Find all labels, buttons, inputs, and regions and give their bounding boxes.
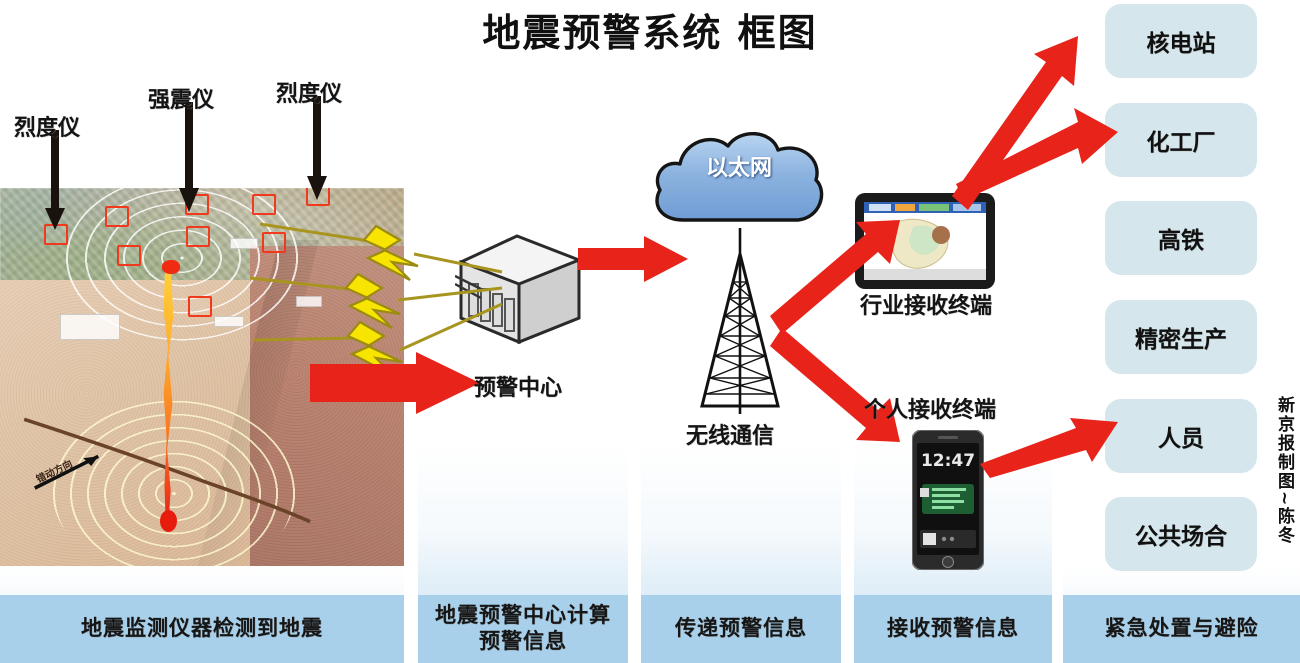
epicenter-marker (162, 260, 180, 274)
sensor-pointer-arrow-1 (44, 130, 66, 230)
sensor-pointer-arrow-2 (178, 102, 200, 212)
sensor-label-strong-motion: 强震仪 (148, 82, 214, 114)
industry-terminal-label: 行业接收终端 (860, 288, 992, 320)
sensor-pointer-arrow-3 (306, 96, 328, 200)
sensor-marker (105, 206, 129, 227)
target-label: 化工厂 (1147, 123, 1216, 157)
stage-label-5: 紧急处置与避险 (1063, 595, 1300, 663)
personal-terminal-label: 个人接收终端 (864, 392, 996, 424)
hypocenter-marker (160, 510, 177, 532)
stage-column-2: 地震预警中心计算 预警信息 (418, 445, 628, 663)
sensor-marker (188, 296, 212, 317)
page-title: 地震预警系统 框图 (0, 2, 1300, 57)
diagram-canvas: 地震监测仪器检测到地震 地震预警中心计算 预警信息 传递预警信息 接收预警信息 … (0, 0, 1300, 663)
target-label: 精密生产 (1135, 320, 1227, 354)
personal-terminal-phone-icon: 12:47 (912, 430, 984, 570)
stage-column-1: 地震监测仪器检测到地震 (0, 567, 404, 663)
seismic-signal-lightning (250, 190, 550, 370)
stage-column-3: 传递预警信息 (641, 445, 841, 663)
stage-label-3: 传递预警信息 (641, 595, 841, 663)
flow-arrow-phone-to-people (980, 418, 1120, 478)
wireless-comm-label: 无线通信 (686, 418, 774, 450)
map-chip (214, 316, 244, 327)
warning-center-label: 预警中心 (474, 370, 562, 402)
ethernet-cloud-label: 以太网 (650, 150, 828, 182)
credit-byline: 新京报制图~陈冬 (1272, 396, 1297, 545)
sensor-label-intensity-left: 烈度仪 (14, 110, 80, 142)
sensor-marker (117, 245, 141, 266)
target-box-public-places[interactable]: 公共场合 (1105, 497, 1257, 571)
sensor-marker (186, 226, 210, 247)
map-chip (60, 314, 120, 340)
target-label: 高铁 (1158, 221, 1204, 255)
target-box-people[interactable]: 人员 (1105, 399, 1257, 473)
svg-text:错动方向: 错动方向 (34, 457, 75, 486)
flow-arrow-center-to-ethernet (578, 236, 688, 282)
target-label: 人员 (1158, 419, 1204, 453)
target-label: 公共场合 (1135, 517, 1227, 551)
sensor-label-intensity-right: 烈度仪 (276, 76, 342, 108)
target-box-precision-manufacturing[interactable]: 精密生产 (1105, 300, 1257, 374)
flow-arrow-to-warning-center (310, 352, 480, 414)
svg-text:12:47: 12:47 (921, 451, 975, 471)
stage-column-5: 紧急处置与避险 (1063, 567, 1300, 663)
stage-label-1: 地震监测仪器检测到地震 (0, 595, 404, 663)
stage-label-4: 接收预警信息 (854, 595, 1052, 663)
stage-label-2: 地震预警中心计算 预警信息 (418, 595, 628, 663)
